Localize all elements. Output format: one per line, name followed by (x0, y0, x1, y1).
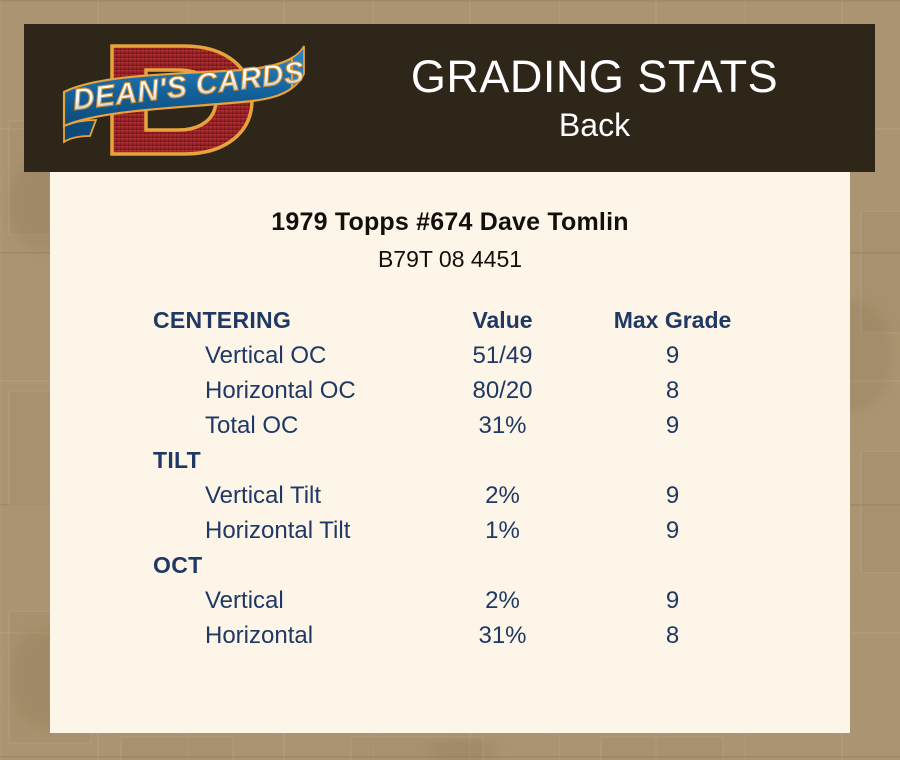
table-row: Vertical OC 51/49 9 (50, 342, 850, 377)
page-title: GRADING STATS (411, 51, 778, 103)
header-title-group: GRADING STATS Back (314, 24, 875, 172)
table-row: Vertical 2% 9 (50, 587, 850, 622)
section-header-oct: OCT (50, 552, 850, 587)
header-bar: DEAN'S CARDS GRADING STATS Back (24, 24, 875, 172)
row-grade: 8 (585, 377, 760, 405)
row-label: Horizontal Tilt (50, 517, 420, 545)
content-panel: 1979 Topps #674 Dave Tomlin B79T 08 4451… (50, 172, 850, 733)
row-label: Horizontal (50, 622, 420, 650)
row-grade: 8 (585, 622, 760, 650)
section-title-tilt: TILT (50, 447, 420, 474)
section-header-tilt: TILT (50, 447, 850, 482)
row-label: Total OC (50, 412, 420, 440)
section-title-centering: CENTERING (50, 307, 420, 334)
row-label: Vertical (50, 587, 420, 615)
row-grade: 9 (585, 342, 760, 370)
card-title: 1979 Topps #674 Dave Tomlin (50, 208, 850, 237)
row-label: Vertical Tilt (50, 482, 420, 510)
section-title-oct: OCT (50, 552, 420, 579)
row-value: 31% (420, 412, 585, 440)
card-serial-number: B79T 08 4451 (50, 246, 850, 273)
row-grade: 9 (585, 587, 760, 615)
table-row: Total OC 31% 9 (50, 412, 850, 447)
row-grade: 9 (585, 517, 760, 545)
table-row: Vertical Tilt 2% 9 (50, 482, 850, 517)
page-subtitle: Back (559, 105, 630, 145)
row-value: 2% (420, 587, 585, 615)
table-row: Horizontal 31% 8 (50, 622, 850, 657)
row-label: Horizontal OC (50, 377, 420, 405)
row-value: 1% (420, 517, 585, 545)
column-header-value: Value (420, 307, 585, 334)
row-value: 80/20 (420, 377, 585, 405)
deans-cards-logo[interactable]: DEAN'S CARDS (60, 30, 306, 170)
row-value: 2% (420, 482, 585, 510)
row-grade: 9 (585, 482, 760, 510)
table-header-row: CENTERING Value Max Grade (50, 307, 850, 342)
row-value: 31% (420, 622, 585, 650)
row-grade: 9 (585, 412, 760, 440)
row-label: Vertical OC (50, 342, 420, 370)
grading-stats-table: CENTERING Value Max Grade Vertical OC 51… (50, 307, 850, 657)
row-value: 51/49 (420, 342, 585, 370)
table-row: Horizontal OC 80/20 8 (50, 377, 850, 412)
column-header-max-grade: Max Grade (585, 307, 760, 334)
table-row: Horizontal Tilt 1% 9 (50, 517, 850, 552)
